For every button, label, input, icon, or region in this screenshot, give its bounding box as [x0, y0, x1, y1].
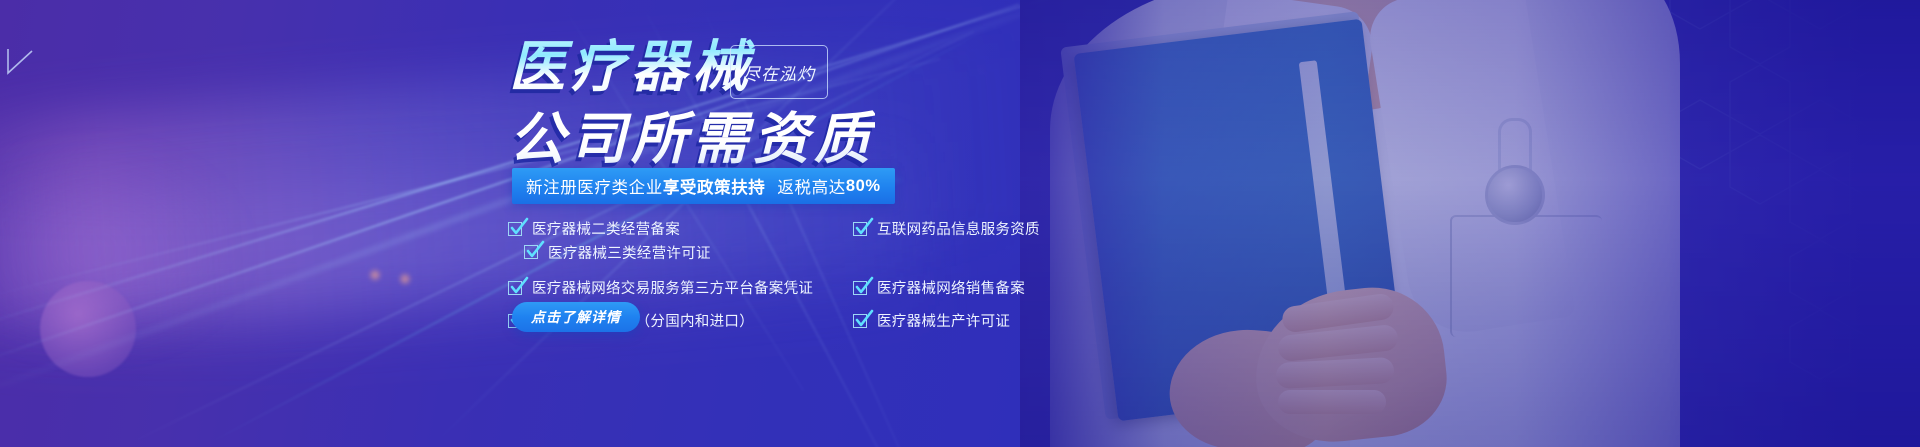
- list-item-label: 医疗器械三类经营许可证: [548, 242, 711, 263]
- tagline-bubble-text: 尽在泓灼: [731, 46, 827, 98]
- checklist-row: 医疗器械网络交易服务第三方平台备案凭证 医疗器械网络销售备案: [508, 277, 1068, 298]
- promo-ribbon: 新注册医疗类企业享受政策扶持返税高达80%: [512, 168, 895, 204]
- list-item: 医疗器械三类经营许可证: [524, 242, 711, 263]
- checkbox-checked-icon: [853, 280, 869, 296]
- tagline-bubble: 尽在泓灼: [730, 45, 828, 99]
- checkbox-checked-icon: [853, 221, 869, 237]
- headline-line-2: 公司所需资质: [509, 110, 875, 168]
- promo-ribbon-part3: 返税高达: [777, 174, 845, 198]
- checklist-col-right: 医疗器械生产许可证: [853, 310, 1068, 331]
- list-item: 医疗器械生产许可证: [853, 310, 1068, 331]
- banner-content: 医疗器械 公司所需资质 尽在泓灼 新注册医疗类企业享受政策扶持返税高达80%: [0, 0, 1920, 447]
- promo-ribbon-part2: 享受政策扶持: [663, 174, 766, 198]
- list-item-label: 医疗器械网络交易服务第三方平台备案凭证: [532, 277, 813, 298]
- list-item: 医疗器械二类经营备案: [508, 218, 680, 239]
- checkbox-checked-icon: [508, 280, 524, 296]
- tagline-bubble-tail: [6, 49, 40, 75]
- checklist-col-left: 医疗器械网络交易服务第三方平台备案凭证: [508, 277, 853, 298]
- list-item: 医疗器械网络交易服务第三方平台备案凭证: [508, 277, 853, 298]
- promo-ribbon-part1: 新注册医疗类企业: [526, 174, 663, 198]
- checklist-col-left: 医疗器械二类经营备案 医疗器械三类经营许可证: [508, 218, 853, 265]
- checkbox-checked-icon: [524, 244, 540, 260]
- list-item: 医疗器械网络销售备案: [853, 277, 1068, 298]
- checkbox-checked-icon: [508, 221, 524, 237]
- checklist-row: 医疗器械二类经营备案 医疗器械三类经营许可证: [508, 218, 1068, 265]
- promo-ribbon-part4: 80%: [846, 177, 881, 196]
- list-item-label: 医疗器械生产许可证: [877, 310, 1010, 331]
- list-item-label: 互联网药品信息服务资质: [877, 218, 1040, 239]
- checkbox-checked-icon: [853, 313, 869, 329]
- cta-button[interactable]: 点击了解详情: [512, 302, 640, 332]
- banner-root: 医疗器械 公司所需资质 尽在泓灼 新注册医疗类企业享受政策扶持返税高达80%: [0, 0, 1920, 447]
- list-item-label: 医疗器械网络销售备案: [877, 277, 1025, 298]
- checklist-col-right: 医疗器械网络销售备案: [853, 277, 1068, 298]
- list-item-label: 医疗器械二类经营备案: [532, 218, 680, 239]
- list-item: 互联网药品信息服务资质: [853, 218, 1068, 239]
- checklist-col-right: 互联网药品信息服务资质: [853, 218, 1068, 239]
